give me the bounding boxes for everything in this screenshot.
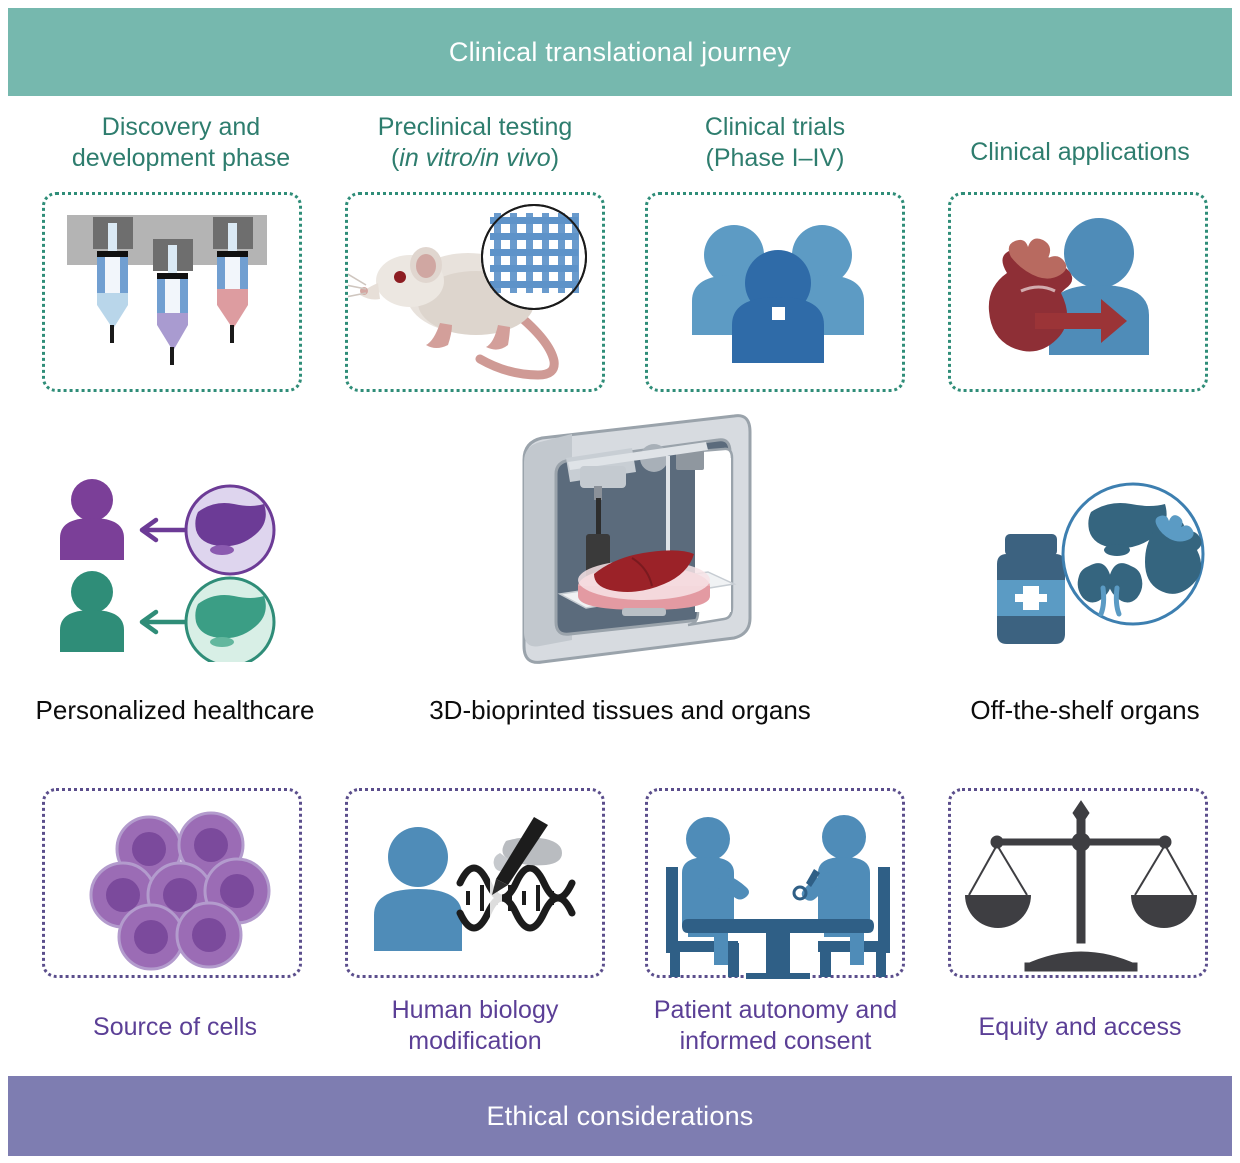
panel-label-discovery: Discovery and development phase [36, 112, 326, 174]
clinical-journey-banner-label: Clinical translational journey [449, 37, 791, 68]
label-patient-autonomy: Patient autonomy and informed consent [628, 995, 923, 1057]
label-bioprinted-tissues: 3D-bioprinted tissues and organs [370, 695, 870, 726]
label-human-biology-modification: Human biology modification [335, 995, 615, 1057]
panel-preclinical[interactable] [345, 192, 605, 392]
mouse-with-scaffold-inset-icon [348, 195, 608, 395]
balance-scales-icon [951, 791, 1211, 981]
panel-label-clinical-applications: Clinical applications [930, 137, 1230, 168]
3d-bioprinter-icon [482, 408, 782, 676]
clinical-journey-banner: Clinical translational journey [8, 8, 1232, 96]
panel-patient-autonomy[interactable] [645, 788, 905, 978]
figure-root: Clinical translational journey Discovery… [0, 0, 1240, 1163]
ethical-considerations-banner: Ethical considerations [8, 1076, 1232, 1156]
people-group-icon [648, 195, 908, 395]
bioprinter-nozzles-icon [45, 195, 305, 395]
heart-transplant-to-patient-icon [951, 195, 1211, 395]
panel-personalized-healthcare[interactable] [52, 472, 312, 662]
panel-label-clinical-trials: Clinical trials (Phase I–IV) [640, 112, 910, 174]
consent-consultation-icon [648, 791, 908, 981]
panel-human-biology-modification[interactable] [345, 788, 605, 978]
panel-equity-access[interactable] [948, 788, 1208, 978]
panel-clinical-applications[interactable] [948, 192, 1208, 392]
cell-cluster-icon [45, 791, 305, 981]
panel-source-of-cells[interactable] [42, 788, 302, 978]
label-source-of-cells: Source of cells [30, 1012, 320, 1043]
panel-label-preclinical-italic: (in vitro/in vivo) [340, 143, 610, 174]
patient-matched-liver-icon [52, 472, 312, 662]
panel-discovery[interactable] [42, 192, 302, 392]
panel-clinical-trials[interactable] [645, 192, 905, 392]
label-equity-and-access: Equity and access [935, 1012, 1225, 1043]
label-off-the-shelf-organs: Off-the-shelf organs [930, 695, 1240, 726]
gene-editing-icon [348, 791, 608, 981]
label-personalized-healthcare: Personalized healthcare [0, 695, 350, 726]
panel-bioprinter[interactable] [482, 408, 782, 676]
organ-bottle-icon [985, 472, 1210, 662]
panel-label-preclinical: Preclinical testing (in vitro/in vivo) [340, 112, 610, 174]
ethical-considerations-banner-label: Ethical considerations [486, 1101, 753, 1132]
panel-off-the-shelf[interactable] [985, 472, 1210, 662]
